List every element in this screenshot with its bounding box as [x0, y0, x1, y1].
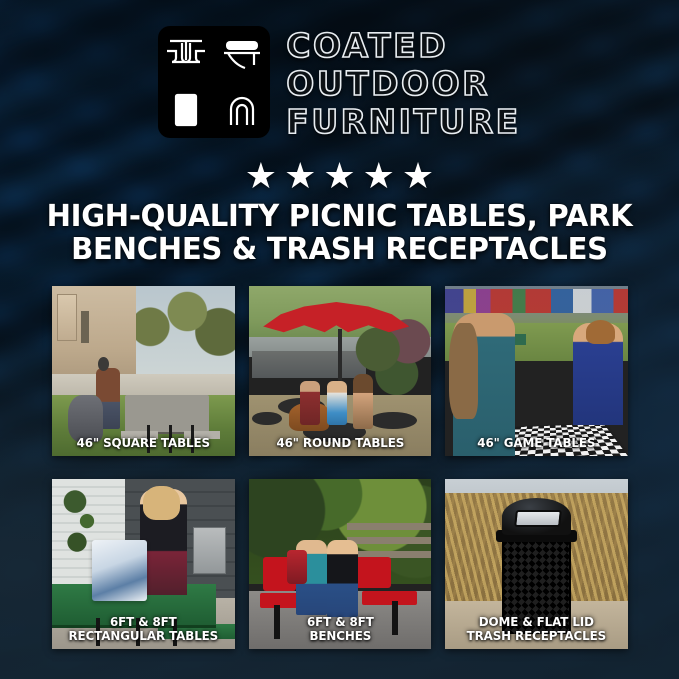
headline-line-1: HIGH-QUALITY PICNIC TABLES, PARK: [32, 200, 648, 233]
logo-icon-grid: [158, 26, 270, 138]
wordmark-line-3: FURNITURE: [286, 104, 520, 140]
product-caption-game-tables: 46" GAME TABLES: [454, 436, 620, 450]
product-tile-benches[interactable]: 6FT & 8FT BENCHES: [249, 479, 432, 649]
product-photo-square-tables: [52, 286, 235, 456]
star-icon-2: ★: [284, 158, 316, 194]
caption-line: 6FT & 8FT: [257, 615, 423, 629]
headline-line-2: BENCHES & TRASH RECEPTACLES: [32, 233, 648, 266]
caption-line: 46" GAME TABLES: [454, 436, 620, 450]
product-tile-rectangular-tables[interactable]: 6FT & 8FT RECTANGULAR TABLES: [52, 479, 235, 649]
product-tile-square-tables[interactable]: 46" SQUARE TABLES: [52, 286, 235, 456]
star-icon-4: ★: [363, 158, 395, 194]
square-picnic-table-icon: [158, 26, 214, 82]
product-tile-trash-receptacles[interactable]: DOME & FLAT LID TRASH RECEPTACLES: [445, 479, 628, 649]
product-caption-trash-receptacles: DOME & FLAT LID TRASH RECEPTACLES: [454, 615, 620, 643]
wordmark-line-2: OUTDOOR: [286, 66, 520, 102]
park-bench-icon: [214, 26, 270, 82]
brand-wordmark: COATED OUTDOOR FURNITURE: [286, 26, 520, 140]
product-caption-benches: 6FT & 8FT BENCHES: [257, 615, 423, 643]
product-tile-grid: 46" SQUARE TABLES: [52, 286, 628, 649]
trash-receptacle-icon: [158, 82, 214, 138]
star-icon-1: ★: [245, 158, 277, 194]
star-icon-3: ★: [323, 158, 355, 194]
product-caption-rectangular-tables: 6FT & 8FT RECTANGULAR TABLES: [60, 615, 226, 643]
caption-line: 46" ROUND TABLES: [257, 436, 423, 450]
star-rating: ★ ★ ★ ★ ★: [0, 158, 679, 194]
caption-line: RECTANGULAR TABLES: [60, 629, 226, 643]
product-tile-round-tables[interactable]: 46" ROUND TABLES: [249, 286, 432, 456]
promo-banner: COATED OUTDOOR FURNITURE ★ ★ ★ ★ ★ HIGH-…: [0, 0, 679, 679]
caption-line: BENCHES: [257, 629, 423, 643]
caption-line: TRASH RECEPTACLES: [454, 629, 620, 643]
wordmark-line-1: COATED: [286, 28, 520, 64]
star-icon-5: ★: [402, 158, 434, 194]
headline: HIGH-QUALITY PICNIC TABLES, PARK BENCHES…: [32, 200, 648, 266]
product-caption-square-tables: 46" SQUARE TABLES: [60, 436, 226, 450]
caption-line: DOME & FLAT LID: [454, 615, 620, 629]
product-caption-round-tables: 46" ROUND TABLES: [257, 436, 423, 450]
product-photo-round-tables: [249, 286, 432, 456]
caption-line: 6FT & 8FT: [60, 615, 226, 629]
product-photo-game-tables: [445, 286, 628, 456]
bike-rack-arch-icon: [214, 82, 270, 138]
brand-logo: COATED OUTDOOR FURNITURE: [0, 26, 679, 140]
product-tile-game-tables[interactable]: 46" GAME TABLES: [445, 286, 628, 456]
caption-line: 46" SQUARE TABLES: [60, 436, 226, 450]
